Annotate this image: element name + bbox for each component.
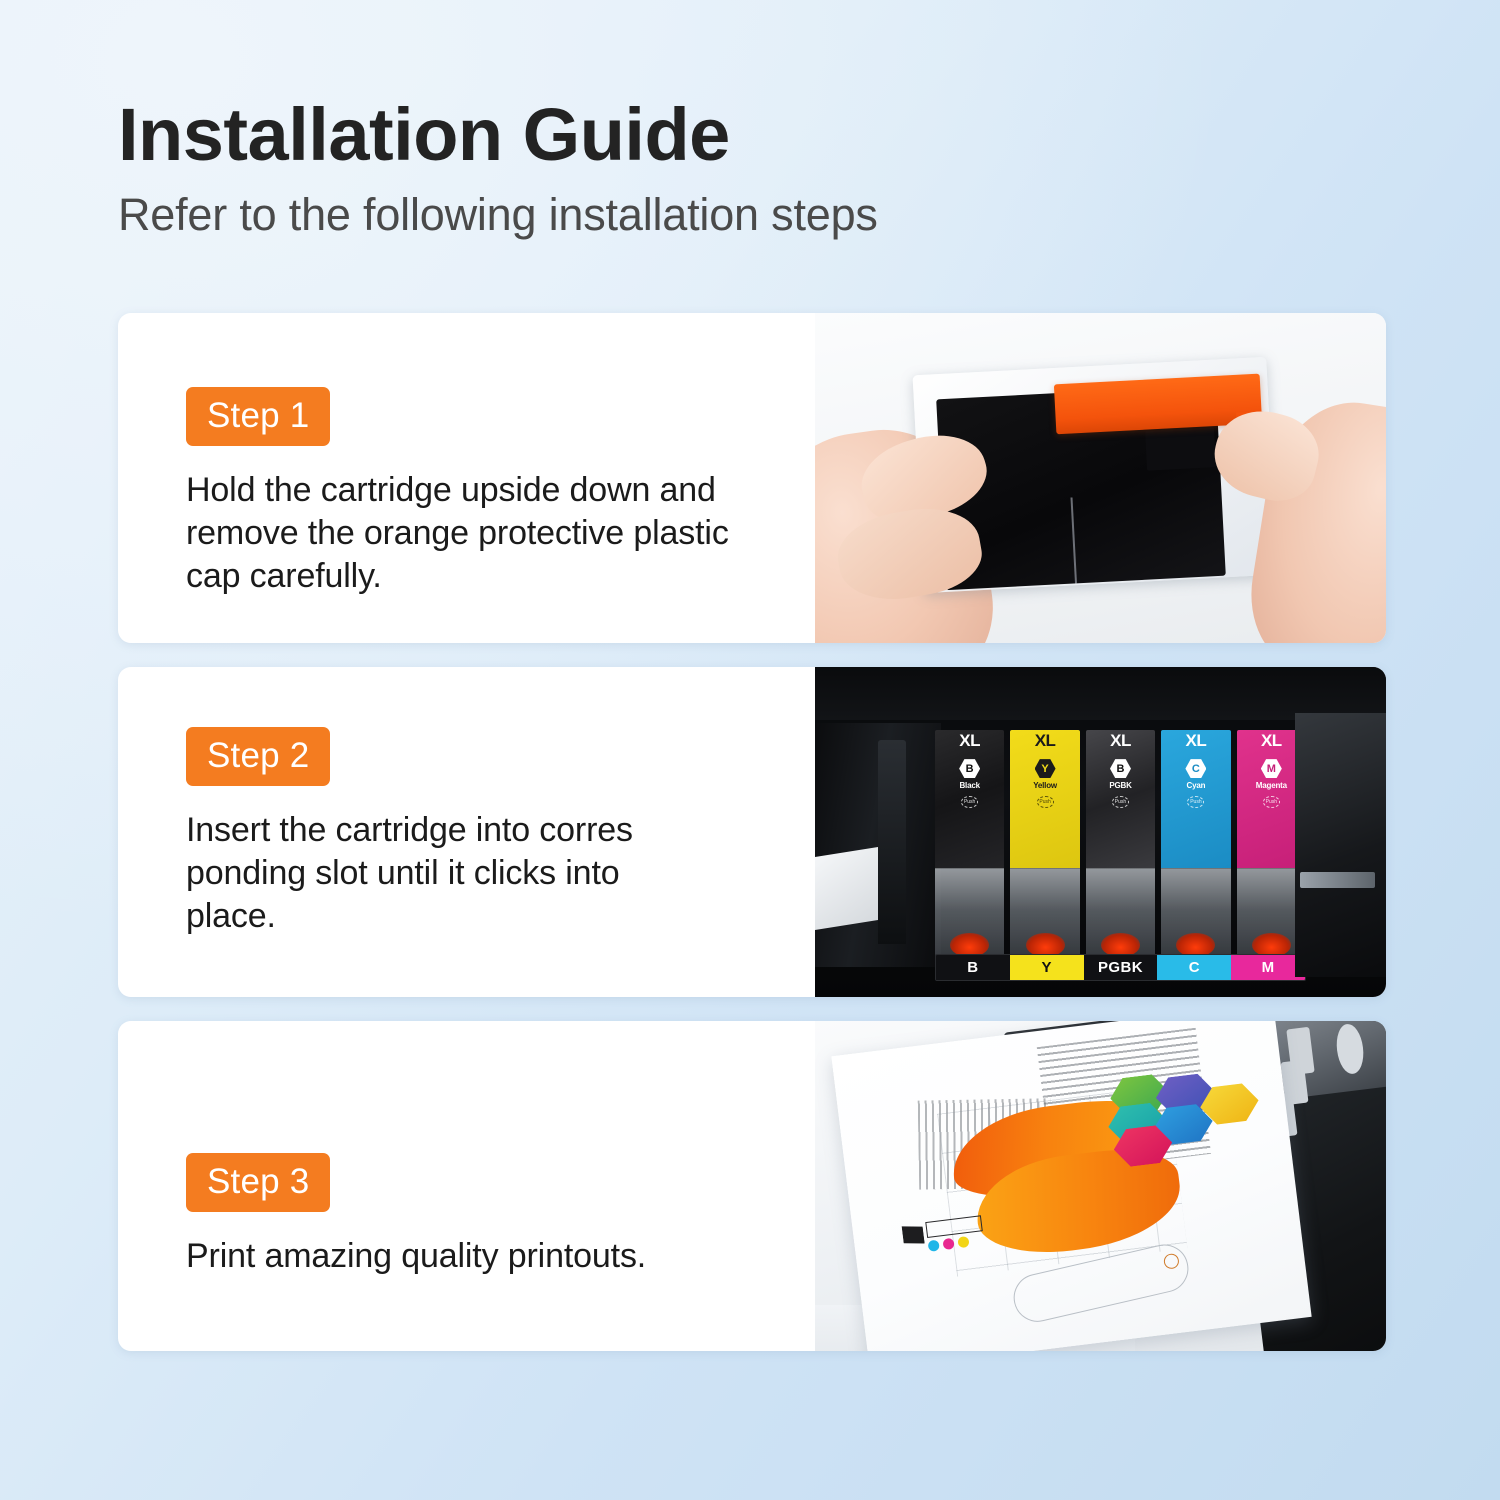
step-card-3: Step 3 Print amazing quality printouts. [118, 1021, 1386, 1351]
ink-tank [1086, 868, 1155, 960]
step-1-text: Hold the cartridge upside down and remov… [186, 469, 786, 599]
cartridge-label-yellow: XL Y Yellow Push [1010, 730, 1079, 869]
xl-badge: XL [1035, 732, 1056, 749]
printout-emerging-photo [815, 1021, 1386, 1351]
carriage-lever [878, 740, 907, 945]
step-1-body: Step 1 Hold the cartridge upside down an… [118, 313, 815, 643]
cartridge-notch [1145, 427, 1215, 470]
cartridge-slot-pgbk: XL B PGBK Push [1086, 730, 1155, 961]
color-name: Magenta [1256, 781, 1287, 790]
printer-top-shadow [815, 667, 1386, 720]
step-3-badge: Step 3 [186, 1153, 330, 1212]
page-header: Installation Guide Refer to the followin… [118, 96, 1388, 240]
printer-carriage-cartridges-photo: XL B Black Push XL Y Yellow Push [815, 667, 1386, 997]
ink-tank [935, 868, 1004, 960]
cmyk-dots [928, 1235, 970, 1251]
step-card-2: Step 2 Insert the cartridge into corres … [118, 667, 1386, 997]
push-icon: Push [1187, 796, 1204, 808]
cartridge-carriage: XL B Black Push XL Y Yellow Push [935, 730, 1306, 961]
color-hex-icon: B [1110, 759, 1131, 778]
slot-label-b: B [936, 955, 1010, 979]
cartridge-slot-black: XL B Black Push [935, 730, 1004, 961]
color-name: Cyan [1187, 781, 1206, 790]
logo-tagline-box [926, 1215, 984, 1238]
xl-badge: XL [1261, 732, 1282, 749]
cartridge-slot-yellow: XL Y Yellow Push [1010, 730, 1079, 961]
printer-right-body [1295, 713, 1386, 977]
hands-removing-orange-cap-photo [815, 313, 1386, 643]
step-3-body: Step 3 Print amazing quality printouts. [118, 1021, 815, 1351]
push-icon: Push [1112, 796, 1129, 808]
color-hex-icon: M [1261, 759, 1282, 778]
xl-badge: XL [959, 732, 980, 749]
color-hex-icon: B [959, 759, 980, 778]
printed-page [832, 1021, 1313, 1351]
cyan-dot-icon [928, 1239, 940, 1251]
color-name: PGBK [1109, 781, 1131, 790]
color-name: Yellow [1033, 781, 1057, 790]
carriage-rail [1300, 872, 1374, 889]
step-2-badge: Step 2 [186, 727, 330, 786]
push-icon: Push [961, 796, 978, 808]
ink-tank [1161, 868, 1230, 960]
paper-edge [815, 847, 878, 930]
push-icon: Push [1263, 796, 1280, 808]
yellow-dot-icon [958, 1235, 970, 1247]
page-subtitle: Refer to the following installation step… [118, 190, 1388, 240]
slot-label-pgbk: PGBK [1084, 955, 1158, 979]
page-title: Installation Guide [118, 96, 1388, 174]
logo-mark-icon [902, 1223, 925, 1245]
cartridge-label-pgbk: XL B PGBK Push [1086, 730, 1155, 869]
xl-badge: XL [1110, 732, 1131, 749]
step-2-text: Insert the cartridge into corres ponding… [186, 809, 786, 939]
slot-label-strip: B Y PGBK C M [935, 954, 1306, 980]
step-3-text: Print amazing quality printouts. [186, 1235, 786, 1278]
step-1-badge: Step 1 [186, 387, 330, 446]
color-hex-icon: Y [1035, 759, 1056, 778]
color-hex-icon: C [1185, 759, 1206, 778]
ink-tank [1010, 868, 1079, 960]
cartridge-slot-cyan: XL C Cyan Push [1161, 730, 1230, 961]
slot-label-c: C [1157, 955, 1231, 979]
step-2-body: Step 2 Insert the cartridge into corres … [118, 667, 815, 997]
cartridge-label-black: XL B Black Push [935, 730, 1004, 869]
cartridge-label-cyan: XL C Cyan Push [1161, 730, 1230, 869]
magenta-dot-icon [943, 1237, 955, 1249]
push-icon: Push [1037, 796, 1054, 808]
steps-list: Step 1 Hold the cartridge upside down an… [118, 313, 1386, 1375]
color-name: Black [959, 781, 979, 790]
page-hexagon-swatches [1108, 1063, 1251, 1161]
xl-badge: XL [1186, 732, 1207, 749]
step-card-1: Step 1 Hold the cartridge upside down an… [118, 313, 1386, 643]
slot-label-y: Y [1010, 955, 1084, 979]
